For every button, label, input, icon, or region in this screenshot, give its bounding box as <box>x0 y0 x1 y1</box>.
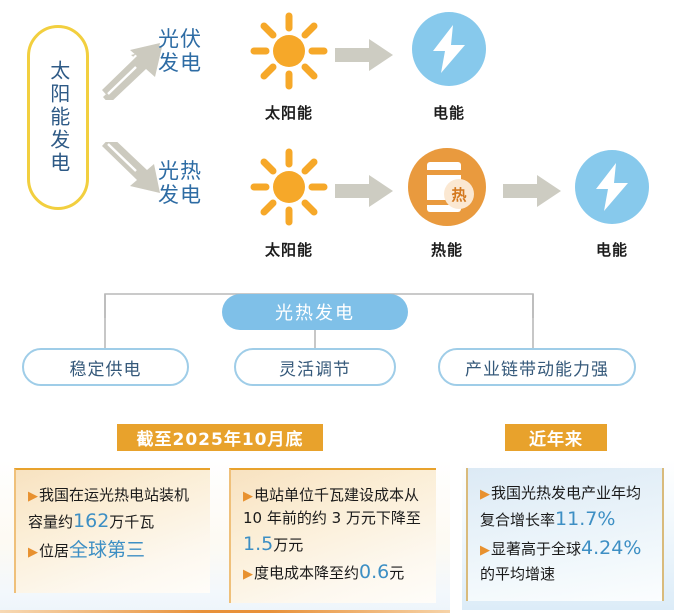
stat-text: 度电成本降至约 <box>254 564 359 582</box>
bullet-triangle-icon: ▶ <box>28 545 38 560</box>
branch-label-solar-thermal: 光热 发电 <box>158 160 202 208</box>
bullet-triangle-icon: ▶ <box>28 489 38 504</box>
stat-line: ▶电站单位千瓦建设成本从 <box>243 484 426 507</box>
heat-tank-icon: 热 <box>408 148 486 226</box>
recent-years-banner-label: 近年来 <box>529 425 583 450</box>
svg-text:热: 热 <box>451 186 466 204</box>
stat-highlight-value: 1.5 <box>243 533 273 555</box>
stat-line: 的平均增速 <box>480 563 652 586</box>
tree-leaf-stable-supply: 稳定供电 <box>22 348 189 386</box>
stat-text: 元 <box>389 564 404 582</box>
stat-line: ▶我国光热发电产业年均 <box>480 482 652 505</box>
stat-text: 容量约 <box>28 513 73 531</box>
stat-text: 电站单位千瓦建设成本从 <box>254 486 419 504</box>
construction-cost-card: ▶电站单位千瓦建设成本从10 年前的约 3 万元下降至1.5万元▶度电成本降至约… <box>229 468 436 603</box>
flow-arrow-right-icon-1 <box>335 38 395 72</box>
tree-root-label: 光热发电 <box>275 299 355 325</box>
stat-text: 我国光热发电产业年均 <box>491 484 641 502</box>
tree-leaf-flexible-regulation: 灵活调节 <box>234 348 396 386</box>
stat-text: 显著高于全球 <box>491 540 581 558</box>
stat-line: ▶我国在运光热电站装机 <box>28 484 200 507</box>
stat-line: ▶度电成本降至约0.6元 <box>243 558 426 587</box>
stat-highlight-value: 11.7% <box>555 508 615 530</box>
installed-capacity-card: ▶我国在运光热电站装机容量约162万千瓦▶位居全球第三 <box>14 468 210 593</box>
bullet-triangle-icon: ▶ <box>243 567 253 582</box>
node-caption-solar-energy-2: 太阳能 <box>241 239 337 260</box>
lightning-bolt-icon-2 <box>575 150 649 224</box>
node-caption-electric-energy-2: 电能 <box>564 239 660 260</box>
sun-icon <box>250 12 328 90</box>
stat-text: 10 年前的约 3 万元下降至 <box>243 509 421 527</box>
branch-label-photovoltaic: 光伏 发电 <box>158 28 202 76</box>
stat-line: ▶位居全球第三 <box>28 536 200 565</box>
stat-highlight-value: 全球第三 <box>69 539 145 561</box>
benefits-tree-diagram: 光热发电 稳定供电 灵活调节 产业链带动能力强 <box>0 272 674 402</box>
solar-power-flow-diagram: 太阳能发电 光伏 发电 <box>0 0 674 272</box>
stat-text: 我国在运光热电站装机 <box>39 486 189 504</box>
stat-line: 1.5万元 <box>243 530 426 559</box>
node-caption-heat-energy: 热能 <box>399 239 495 260</box>
stat-line: 复合增长率11.7% <box>480 505 652 534</box>
tree-leaf-label: 灵活调节 <box>279 355 351 380</box>
bullet-triangle-icon: ▶ <box>243 489 253 504</box>
stat-highlight-value: 4.24% <box>581 537 641 559</box>
stat-text: 位居 <box>39 542 69 560</box>
tree-leaf-industry-chain: 产业链带动能力强 <box>438 348 636 386</box>
stat-text: 的平均增速 <box>480 565 555 583</box>
flow-arrow-right-icon-3 <box>503 174 563 208</box>
stat-highlight-value: 0.6 <box>359 561 389 583</box>
statistics-section: 截至2025年10月底 近年来 ▶我国在运光热电站装机容量约162万千瓦▶位居全… <box>0 402 674 610</box>
tree-root-node: 光热发电 <box>222 294 408 330</box>
recent-years-banner: 近年来 <box>505 424 607 451</box>
sun-icon-2 <box>250 148 328 226</box>
tree-leaf-label: 产业链带动能力强 <box>465 355 609 380</box>
stat-text: 复合增长率 <box>480 511 555 529</box>
stat-highlight-value: 162 <box>73 510 109 532</box>
stat-line: ▶显著高于全球4.24% <box>480 534 652 563</box>
as-of-banner-label: 截至2025年10月底 <box>137 425 304 450</box>
node-caption-electric-energy-1: 电能 <box>401 102 497 123</box>
stat-line: 10 年前的约 3 万元下降至 <box>243 507 426 530</box>
bullet-triangle-icon: ▶ <box>480 543 490 558</box>
branch-arrow-up-icon <box>100 42 166 100</box>
stat-text: 万元 <box>273 536 303 554</box>
lightning-bolt-icon-1 <box>412 12 486 86</box>
flow-arrow-right-icon-2 <box>335 174 395 208</box>
branch-arrow-down-icon <box>100 142 166 204</box>
bullet-triangle-icon: ▶ <box>480 487 490 502</box>
tree-leaf-label: 稳定供电 <box>70 355 142 380</box>
source-capsule: 太阳能发电 <box>27 25 89 210</box>
source-capsule-label: 太阳能发电 <box>47 60 69 175</box>
stat-text: 万千瓦 <box>109 513 154 531</box>
node-caption-solar-energy-1: 太阳能 <box>241 102 337 123</box>
stat-line: 容量约162万千瓦 <box>28 507 200 536</box>
growth-rate-card: ▶我国光热发电产业年均复合增长率11.7%▶显著高于全球4.24%的平均增速 <box>466 468 664 601</box>
as-of-banner: 截至2025年10月底 <box>117 424 323 451</box>
